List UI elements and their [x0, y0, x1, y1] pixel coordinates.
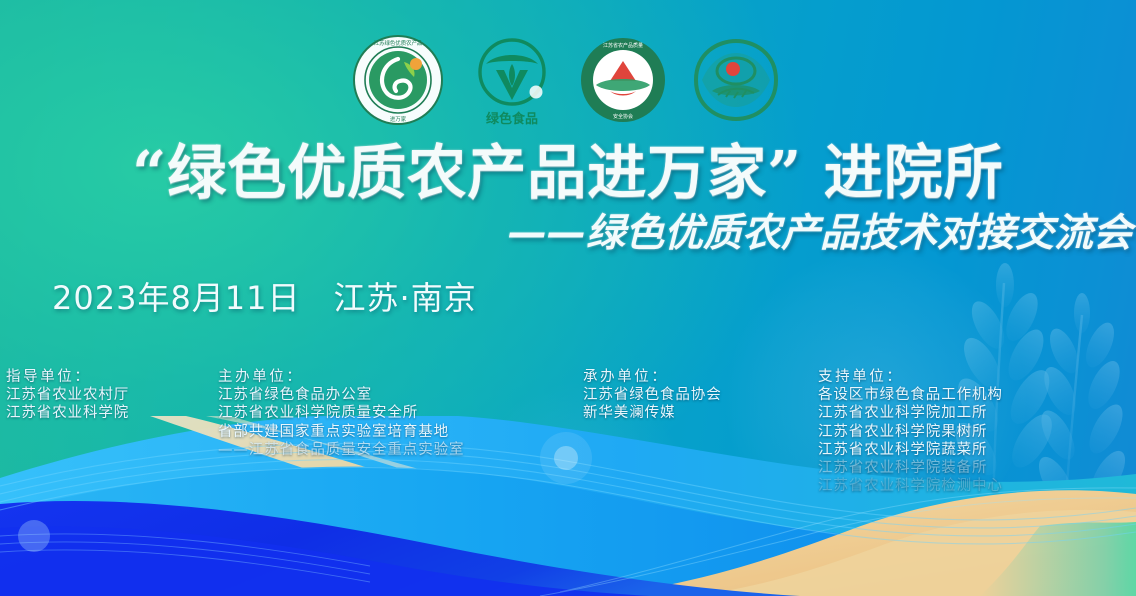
credit-heading: 主办单位：	[218, 368, 583, 386]
credit-column-organizer: 主办单位： 江苏省绿色食品办公室 江苏省农业科学院质量安全所 省部共建国家重点实…	[218, 368, 583, 495]
credit-item: 各设区市绿色食品工作机构	[818, 386, 1003, 404]
credit-column-guidance: 指导单位： 江苏省农业农村厅 江苏省农业科学院	[6, 368, 218, 495]
credit-item: 新华美澜传媒	[583, 404, 818, 422]
credit-item: 省部共建国家重点实验室培育基地	[218, 423, 583, 441]
credit-item: 江苏省绿色食品协会	[583, 386, 818, 404]
logo-row: 江苏绿色优质农产品 进万家 绿色食品	[0, 34, 1136, 130]
logo-agricultural-product-quality-seal: 江苏省农产品质量 安全协会	[580, 37, 666, 127]
title-block: “绿色优质农产品进万家” 进院所 ——绿色优质农产品技术对接交流会 2023年8…	[0, 142, 1136, 319]
credit-item: 江苏省农业科学院	[6, 404, 218, 422]
credit-item: 江苏省农业科学院质量安全所	[218, 404, 583, 422]
credit-heading: 承办单位：	[583, 368, 818, 386]
conference-banner: 江苏绿色优质农产品 进万家 绿色食品	[0, 0, 1136, 596]
date-location-line: 2023年8月11日 江苏·南京	[0, 273, 1136, 319]
credit-item: 江苏省农业科学院加工所	[818, 404, 1003, 422]
page-title: “绿色优质农产品进万家” 进院所	[0, 142, 1136, 205]
svg-text:进万家: 进万家	[390, 115, 407, 123]
credit-item: 江苏省绿色食品办公室	[218, 386, 583, 404]
credit-heading: 指导单位：	[6, 368, 218, 386]
credit-column-host: 承办单位： 江苏省绿色食品协会 新华美澜传媒	[583, 368, 818, 495]
credit-item: ——江苏省食品质量安全重点实验室	[218, 441, 583, 459]
svg-text:安全协会: 安全协会	[613, 113, 633, 120]
credit-heading: 支持单位：	[818, 368, 1003, 386]
svg-text:江苏绿色优质农产品: 江苏绿色优质农产品	[374, 39, 423, 47]
credit-item: 江苏省农业科学院装备所	[818, 459, 1003, 477]
logo-green-food: 绿色食品	[466, 34, 558, 130]
svg-text:江苏省农产品质量: 江苏省农产品质量	[603, 42, 643, 49]
page-subtitle: ——绿色优质农产品技术对接交流会	[0, 213, 1136, 256]
credit-item: 江苏省农业科学院果树所	[818, 423, 1003, 441]
credit-item: 江苏省农业科学院检测中心	[818, 477, 1003, 495]
logo-agricultural-science-institute-emblem	[688, 37, 784, 127]
credits-block: 指导单位： 江苏省农业农村厅 江苏省农业科学院 主办单位： 江苏省绿色食品办公室…	[0, 368, 1136, 495]
credit-item: 江苏省农业科学院蔬菜所	[818, 441, 1003, 459]
credit-item: 江苏省农业农村厅	[6, 386, 218, 404]
svg-text:绿色食品: 绿色食品	[486, 111, 538, 126]
logo-jiangsu-green-quality-agricultural-products-seal: 江苏绿色优质农产品 进万家	[352, 34, 444, 130]
credit-column-support: 支持单位： 各设区市绿色食品工作机构 江苏省农业科学院加工所 江苏省农业科学院果…	[818, 368, 1003, 495]
